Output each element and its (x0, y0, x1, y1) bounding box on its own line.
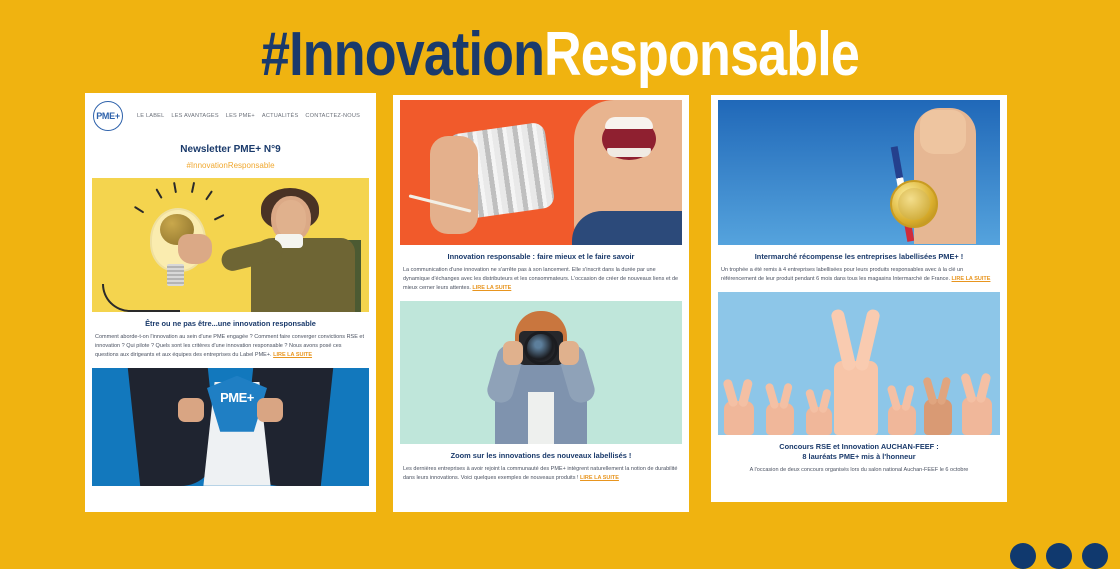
newsletter-hashtag: #InnovationResponsable (85, 161, 376, 170)
read-more-link[interactable]: LIRE LA SUITE (580, 475, 619, 481)
nav-item-contactez-nous[interactable]: CONTACTEZ-NOUS (305, 113, 360, 119)
pme-plus-superhero-image: PME+ (92, 368, 369, 486)
article-body: Un trophée a été remis à 4 entreprises l… (711, 266, 1007, 292)
article-body-text: La communication d'une innovation ne s'a… (403, 267, 678, 291)
page-title-hashtag-part: #Innovation (261, 20, 544, 89)
article-title-line-two: 8 lauréats PME+ mis à l'honneur (721, 452, 997, 462)
nav-item-actualites[interactable]: ACTUALITÉS (262, 113, 299, 119)
dot-1 (1010, 543, 1036, 569)
newsletter-panel-left[interactable]: PME+ LE LABEL LES AVANTAGES LES PME+ ACT… (85, 93, 376, 512)
page-title: #InnovationResponsable (90, 24, 1031, 86)
read-more-link[interactable]: LIRE LA SUITE (472, 285, 511, 291)
site-navigation: LE LABEL LES AVANTAGES LES PME+ ACTUALIT… (123, 113, 370, 119)
article-title: Innovation responsable : faire mieux et … (393, 245, 689, 266)
gold-medal-image (718, 100, 1000, 245)
article-title: Concours RSE et Innovation AUCHAN-FEEF :… (711, 435, 1007, 466)
article-title: Zoom sur les innovations des nouveaux la… (393, 444, 689, 465)
article-body-text: Un trophée a été remis à 4 entreprises l… (721, 267, 963, 282)
read-more-link[interactable]: LIRE LA SUITE (273, 352, 312, 358)
article-body: Les dernières entreprises à avoir rejoin… (393, 465, 689, 491)
article-body-text: Comment aborde-t-on l'innovation au sein… (95, 334, 364, 358)
shakespeare-lightbulb-image (92, 178, 369, 312)
pme-plus-logo-icon[interactable]: PME+ (93, 101, 123, 131)
newsletter-title: Newsletter PME+ N°9 (85, 144, 376, 155)
article-title-line-one: Concours RSE et Innovation AUCHAN-FEEF : (721, 442, 997, 452)
article-title: Intermarché récompense les entreprises l… (711, 245, 1007, 266)
article-title: Être ou ne pas être...une innovation res… (85, 312, 376, 333)
dot-3 (1082, 543, 1108, 569)
nav-item-le-label[interactable]: LE LABEL (137, 113, 164, 119)
newsletter-panel-right[interactable]: Intermarché récompense les entreprises l… (711, 95, 1007, 502)
article-body-text: Les dernières entreprises à avoir rejoin… (403, 466, 677, 481)
read-more-link[interactable]: LIRE LA SUITE (952, 276, 991, 282)
site-header: PME+ LE LABEL LES AVANTAGES LES PME+ ACT… (85, 93, 376, 135)
article-body: La communication d'une innovation ne s'a… (393, 266, 689, 301)
photographer-camera-image (400, 301, 682, 444)
dot-2 (1046, 543, 1072, 569)
navy-dots-decoration (1010, 543, 1108, 569)
page-title-second-part: Responsable (544, 20, 859, 89)
nav-item-les-avantages[interactable]: LES AVANTAGES (171, 113, 218, 119)
tin-can-telephone-image (400, 100, 682, 245)
article-body: Comment aborde-t-on l'innovation au sein… (85, 333, 376, 368)
peace-sign-hands-image (718, 292, 1000, 435)
newsletter-panel-middle[interactable]: Innovation responsable : faire mieux et … (393, 95, 689, 512)
article-body: A l'occasion de deux concours organisés … (711, 466, 1007, 483)
nav-item-les-pme-plus[interactable]: LES PME+ (226, 113, 255, 119)
